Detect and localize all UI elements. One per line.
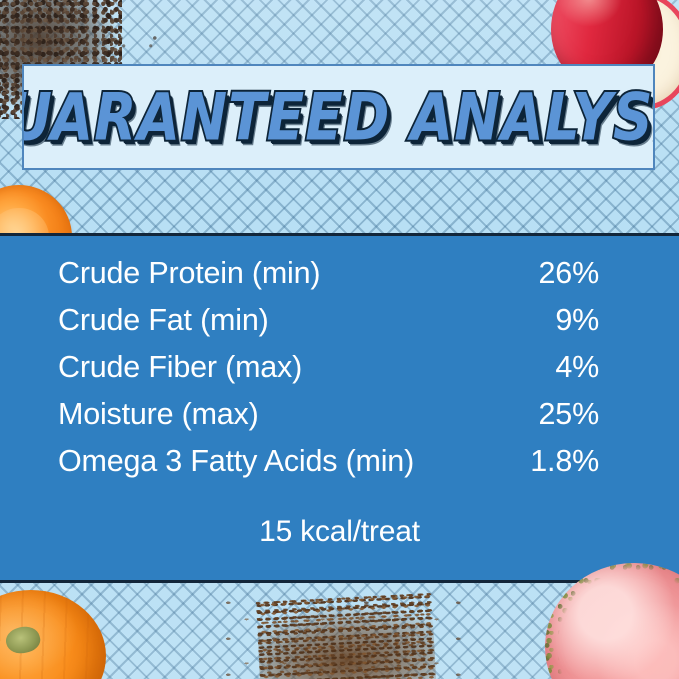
dot-leader (269, 329, 556, 330)
calorie-content: 15 kcal/treat (0, 515, 679, 549)
dot-leader (320, 282, 538, 283)
table-row: Crude Fat (min) 9% (58, 297, 599, 344)
nutrient-rows: Crude Protein (min) 26% Crude Fat (min) … (58, 250, 599, 485)
table-row: Crude Fiber (max) 4% (58, 344, 599, 391)
nutrient-label: Omega 3 Fatty Acids (min) (58, 438, 414, 485)
dot-leader (259, 423, 539, 424)
dot-leader (302, 376, 555, 377)
title-box: GUARANTEED ANALYSIS (22, 64, 655, 170)
nutrient-label: Moisture (max) (58, 391, 259, 438)
nutrient-value: 25% (539, 391, 599, 438)
dot-leader (414, 470, 530, 471)
table-row: Moisture (max) 25% (58, 391, 599, 438)
nutrient-label: Crude Fiber (max) (58, 344, 302, 391)
guaranteed-analysis-label: GUARANTEED ANALYSIS Crude Protein (min) … (0, 0, 679, 679)
analysis-panel: Crude Protein (min) 26% Crude Fat (min) … (0, 233, 679, 583)
table-row: Omega 3 Fatty Acids (min) 1.8% (58, 438, 599, 485)
nutrient-value: 9% (555, 297, 599, 344)
nutrient-value: 1.8% (530, 438, 599, 485)
nutrient-label: Crude Protein (min) (58, 250, 320, 297)
nutrient-value: 4% (555, 344, 599, 391)
nutrient-value: 26% (539, 250, 599, 297)
nutrient-label: Crude Fat (min) (58, 297, 269, 344)
table-row: Crude Protein (min) 26% (58, 250, 599, 297)
page-title: GUARANTEED ANALYSIS (22, 79, 655, 155)
